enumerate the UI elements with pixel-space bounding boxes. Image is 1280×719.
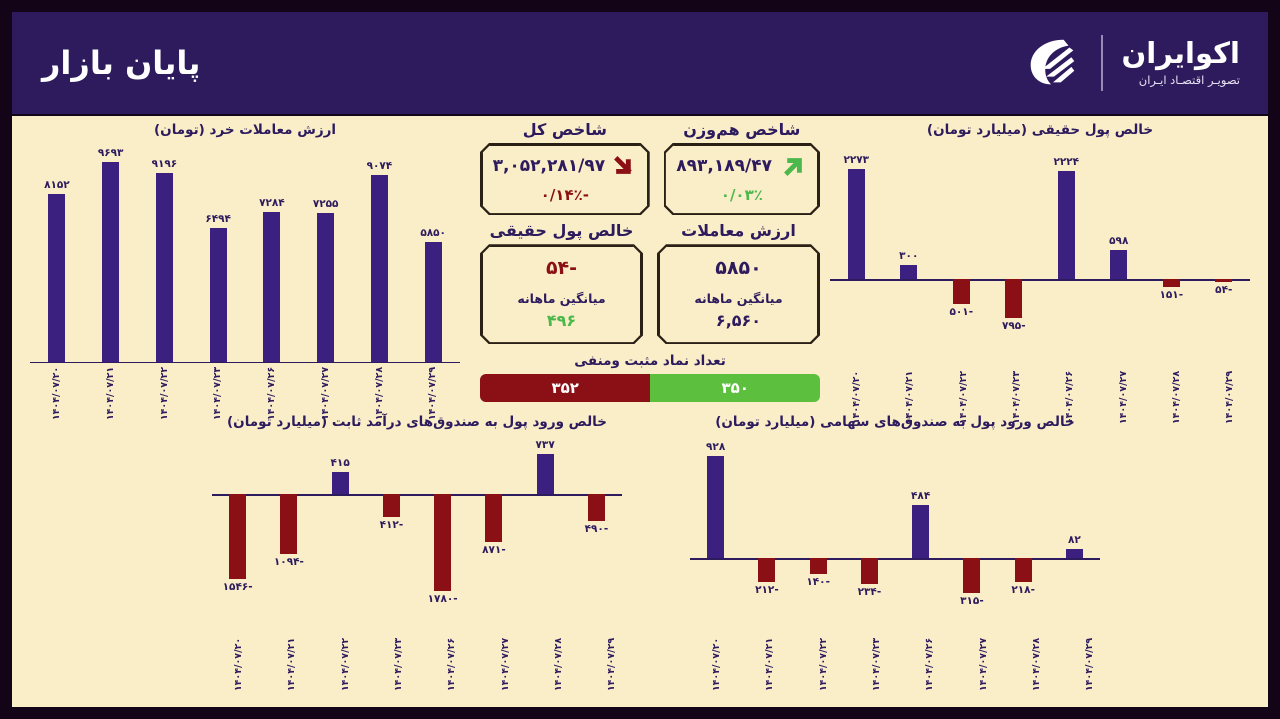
bar-value-label: -۲۱۲ xyxy=(755,584,779,596)
x-axis-labels: ۱۴۰۴/۰۷/۲۰۱۴۰۴/۰۷/۲۱۱۴۰۴/۰۷/۲۲۱۴۰۴/۰۷/۲۳… xyxy=(30,358,460,399)
bar-item[interactable]: ۹۲۸ xyxy=(690,448,741,598)
bar-value-label: ۹۱۹۶ xyxy=(152,158,178,170)
brand-divider xyxy=(1101,35,1103,91)
x-tick-label: ۱۴۰۴/۰۷/۲۸ xyxy=(1031,638,1042,691)
card-frame: ۵۸۵۰ میانگین ماهانه ۶,۵۶۰ xyxy=(657,244,820,344)
page-title: پایان بازار xyxy=(42,44,200,82)
card-body: ۳,۰۵۲,۲۸۱/۹۷ -۰/۱۴٪ xyxy=(482,145,649,214)
x-tick-cell: ۱۴۰۴/۰۷/۲۸ xyxy=(532,629,585,670)
x-tick-cell: ۱۴۰۴/۰۷/۲۶ xyxy=(903,629,956,670)
x-tick-label: ۱۴۰۴/۰۷/۲۷ xyxy=(1118,371,1129,424)
bar-value-label: -۵۴ xyxy=(1215,284,1232,296)
x-tick-cell: ۱۴۰۴/۰۷/۲۸ xyxy=(1010,629,1063,670)
brand-block: اکوایران تصویـر اقتصـاد ایـران xyxy=(1021,32,1240,94)
bar-value-label: -۱۵۱ xyxy=(1159,289,1183,301)
bar-positive xyxy=(900,265,917,280)
x-tick-cell: ۱۴۰۴/۰۷/۲۷ xyxy=(299,358,353,399)
plot-area: ۸۱۵۲۹۶۹۳۹۱۹۶۶۴۹۴۷۲۸۴۷۲۵۵۹۰۷۴۵۸۵۰ xyxy=(30,152,460,362)
bar-positive xyxy=(102,162,119,362)
bar-value-label: ۴۸۴ xyxy=(911,490,930,502)
x-tick-label: ۱۴۰۴/۰۷/۲۰ xyxy=(711,638,722,691)
bar-item[interactable]: ۹۶۹۳ xyxy=(84,152,138,362)
x-axis-labels: ۱۴۰۴/۰۷/۲۰۱۴۰۴/۰۷/۲۱۱۴۰۴/۰۷/۲۲۱۴۰۴/۰۷/۲۳… xyxy=(212,629,622,670)
x-tick-cell: ۱۴۰۴/۰۷/۲۸ xyxy=(353,358,407,399)
bar-negative xyxy=(758,558,775,581)
metric-value: ۵۸۵۰ xyxy=(670,257,808,279)
card-body: ۵۸۵۰ میانگین ماهانه ۶,۵۶۰ xyxy=(659,246,819,343)
chart-equity-fund-flow: خالص ورود پول به صندوق‌های سهامی (میلیار… xyxy=(690,414,1100,598)
bar-group: -۱۵۴۶-۱۰۹۴۴۱۵-۴۱۲-۱۷۸۰-۸۷۱۷۳۷-۴۹۰ xyxy=(212,448,622,598)
x-tick-label: ۱۴۰۴/۰۷/۲۳ xyxy=(393,638,404,691)
chart-title: خالص ورود پول به صندوق‌های سهامی (میلیار… xyxy=(690,414,1100,430)
chart-fixed-income-fund-flow: خالص ورود پول به صندوق‌های درآمد ثابت (م… xyxy=(212,414,622,598)
bar-value-label: -۱۵۴۶ xyxy=(223,581,253,593)
x-tick-cell: ۱۴۰۴/۰۷/۲۳ xyxy=(850,629,903,670)
x-tick-label: ۱۴۰۴/۰۷/۲۷ xyxy=(978,638,989,691)
bar-value-label: ۹۰۷۴ xyxy=(367,160,393,172)
card-body: -۵۴ میانگین ماهانه ۴۹۶ xyxy=(482,246,642,343)
bar-negative xyxy=(485,494,502,542)
x-tick-label: ۱۴۰۴/۰۷/۲۸ xyxy=(1171,371,1182,424)
bar-positive xyxy=(707,456,724,558)
x-tick-cell: ۱۴۰۴/۰۷/۲۹ xyxy=(406,358,460,399)
x-tick-cell: ۱۴۰۴/۰۷/۲۷ xyxy=(1097,362,1150,403)
x-tick-cell: ۱۴۰۴/۰۷/۲۶ xyxy=(245,358,299,399)
x-tick-cell: ۱۴۰۴/۰۷/۲۶ xyxy=(425,629,478,670)
bar-value-label: ۸۱۵۲ xyxy=(44,179,70,191)
bar-value-label: ۷۲۵۵ xyxy=(313,198,339,210)
bar-value-label: ۸۲ xyxy=(1068,534,1081,546)
bar-negative xyxy=(1163,279,1180,286)
bar-item[interactable]: -۱۰۹۴ xyxy=(263,448,314,598)
bar-item[interactable]: ۵۹۸ xyxy=(1093,158,1146,323)
arrow-down-right-icon xyxy=(611,153,637,179)
x-axis-labels: ۱۴۰۴/۰۷/۲۰۱۴۰۴/۰۷/۲۱۱۴۰۴/۰۷/۲۲۱۴۰۴/۰۷/۲۳… xyxy=(690,629,1100,670)
summary-cards: شاخص کل ۳,۰۵۲,۲۸۱/۹۷ -۰ xyxy=(480,120,820,402)
metric-sub-value: ۴۹۶ xyxy=(493,311,631,330)
bar-value-label: -۷۹۵ xyxy=(1002,320,1026,332)
eco-iran-swoosh-logo-icon xyxy=(1021,32,1083,94)
bar-value-label: ۴۱۵ xyxy=(331,457,350,469)
symbols-negative-count: ۳۵۲ xyxy=(480,374,650,402)
bar-item[interactable]: ۴۱۵ xyxy=(315,448,366,598)
x-tick-label: ۱۴۰۴/۰۷/۲۱ xyxy=(286,638,297,691)
bar-negative xyxy=(963,558,980,593)
dashboard-canvas: ارزش معاملات خرد (تومان) ۸۱۵۲۹۶۹۳۹۱۹۶۶۴۹… xyxy=(12,116,1268,707)
x-tick-label: ۱۴۰۴/۰۷/۲۷ xyxy=(320,367,331,420)
bar-item[interactable]: -۱۴۰ xyxy=(793,448,844,598)
card-frame: ۳,۰۵۲,۲۸۱/۹۷ -۰/۱۴٪ xyxy=(480,143,650,215)
bar-item[interactable]: -۵۴ xyxy=(1198,158,1251,323)
bar-value-label: ۷۳۷ xyxy=(536,439,555,451)
x-tick-cell: ۱۴۰۴/۰۷/۲۹ xyxy=(1203,362,1256,403)
x-tick-label: ۱۴۰۴/۰۷/۲۲ xyxy=(818,638,829,691)
x-tick-label: ۱۴۰۴/۰۷/۲۲ xyxy=(159,367,170,420)
x-tick-cell: ۱۴۰۴/۰۷/۲۰ xyxy=(830,362,883,403)
bar-negative xyxy=(434,494,451,591)
arrow-up-right-icon xyxy=(781,153,807,179)
bar-positive xyxy=(537,454,554,494)
x-tick-cell: ۱۴۰۴/۰۷/۲۰ xyxy=(212,629,265,670)
bar-item[interactable]: -۲۳۴ xyxy=(844,448,895,598)
bar-positive xyxy=(156,173,173,362)
index-card-row: شاخص کل ۳,۰۵۲,۲۸۱/۹۷ -۰ xyxy=(480,120,820,215)
bar-item[interactable]: ۴۸۴ xyxy=(895,448,946,598)
bar-item[interactable]: -۸۷۱ xyxy=(468,448,519,598)
x-tick-label: ۱۴۰۴/۰۷/۲۶ xyxy=(266,367,277,420)
x-tick-label: ۱۴۰۴/۰۷/۲۶ xyxy=(446,638,457,691)
index-value: ۳,۰۵۲,۲۸۱/۹۷ xyxy=(493,156,606,176)
bar-group: ۸۱۵۲۹۶۹۳۹۱۹۶۶۴۹۴۷۲۸۴۷۲۵۵۹۰۷۴۵۸۵۰ xyxy=(30,152,460,362)
x-tick-cell: ۱۴۰۴/۰۷/۲۷ xyxy=(479,629,532,670)
card-trade-value: ارزش معاملات ۵۸۵۰ میانگین ماهانه ۶,۵۶۰ xyxy=(657,221,820,344)
x-tick-label: ۱۴۰۴/۰۷/۲۰ xyxy=(51,367,62,420)
bar-value-label: ۵۹۸ xyxy=(1109,235,1128,247)
x-tick-cell: ۱۴۰۴/۰۷/۲۶ xyxy=(1043,362,1096,403)
bar-value-label: ۲۲۷۳ xyxy=(843,154,869,166)
bar-negative xyxy=(810,558,827,573)
x-tick-cell: ۱۴۰۴/۰۷/۲۳ xyxy=(990,362,1043,403)
bar-group: ۲۲۷۳۳۰۰-۵۰۱-۷۹۵۲۲۲۴۵۹۸-۱۵۱-۵۴ xyxy=(830,158,1250,323)
x-tick-label: ۱۴۰۴/۰۷/۲۹ xyxy=(428,367,439,420)
bar-item[interactable]: ۳۰۰ xyxy=(883,158,936,323)
chart-retail-trade-value: ارزش معاملات خرد (تومان) ۸۱۵۲۹۶۹۳۹۱۹۶۶۴۹… xyxy=(30,122,460,362)
bar-value-label: -۴۱۲ xyxy=(380,519,404,531)
bar-item[interactable]: ۵۸۵۰ xyxy=(406,152,460,362)
card-body: ۸۹۳,۱۸۹/۴۷ ۰/۰۳٪ xyxy=(665,145,818,214)
x-tick-label: ۱۴۰۴/۰۷/۲۹ xyxy=(1224,371,1235,424)
bar-negative xyxy=(229,494,246,578)
app-header: اکوایران تصویـر اقتصـاد ایـران پایان باز… xyxy=(12,12,1268,114)
symbols-bar: ۳۵۲ ۳۵۰ xyxy=(480,374,820,402)
bar-value-label: -۱۰۹۴ xyxy=(274,556,304,568)
metric-sub-label: میانگین ماهانه xyxy=(670,291,808,306)
chart-title: ارزش معاملات خرد (تومان) xyxy=(30,122,460,138)
bar-value-label: -۲۱۸ xyxy=(1011,584,1035,596)
bar-item[interactable]: -۷۹۵ xyxy=(988,158,1041,323)
plot-area: -۱۵۴۶-۱۰۹۴۴۱۵-۴۱۲-۱۷۸۰-۸۷۱۷۳۷-۴۹۰ xyxy=(212,448,622,598)
bar-positive xyxy=(317,213,334,362)
bar-negative xyxy=(861,558,878,584)
card-frame: ۸۹۳,۱۸۹/۴۷ ۰/۰۳٪ xyxy=(664,143,820,215)
bar-positive xyxy=(1058,171,1075,279)
bar-value-label: ۳۰۰ xyxy=(899,250,918,262)
x-tick-cell: ۱۴۰۴/۰۷/۲۱ xyxy=(265,629,318,670)
symbols-title: تعداد نماد مثبت ومنفی xyxy=(480,353,820,369)
bar-value-label: -۲۳۴ xyxy=(858,586,882,598)
x-tick-cell: ۱۴۰۴/۰۷/۲۲ xyxy=(319,629,372,670)
bar-item[interactable]: ۲۲۷۳ xyxy=(830,158,883,323)
bar-positive xyxy=(425,242,442,362)
bar-negative xyxy=(1005,279,1022,318)
bar-item[interactable]: ۹۱۹۶ xyxy=(138,152,192,362)
bar-positive xyxy=(848,169,865,279)
brand-name: اکوایران xyxy=(1121,39,1240,68)
x-tick-label: ۱۴۰۴/۰۷/۲۳ xyxy=(871,638,882,691)
dashboard-root: اکوایران تصویـر اقتصـاد ایـران پایان باز… xyxy=(0,0,1280,719)
x-tick-label: ۱۴۰۴/۰۷/۲۱ xyxy=(105,367,116,420)
metric-sub-value: ۶,۵۶۰ xyxy=(670,311,808,330)
bar-item[interactable]: -۴۹۰ xyxy=(571,448,622,598)
plot-area: ۹۲۸-۲۱۲-۱۴۰-۲۳۴۴۸۴-۳۱۵-۲۱۸۸۲ xyxy=(690,448,1100,598)
bar-item[interactable]: ۷۲۵۵ xyxy=(299,152,353,362)
x-tick-label: ۱۴۰۴/۰۷/۲۱ xyxy=(764,638,775,691)
bar-value-label: -۵۰۱ xyxy=(949,306,973,318)
bar-positive xyxy=(48,194,65,362)
bar-item[interactable]: ۲۲۲۴ xyxy=(1040,158,1093,323)
bar-negative xyxy=(1015,558,1032,582)
bar-item[interactable]: -۱۷۸۰ xyxy=(417,448,468,598)
index-percent: ۰/۰۳٪ xyxy=(676,186,807,204)
bar-value-label: ۹۶۹۳ xyxy=(98,147,124,159)
bar-negative xyxy=(383,494,400,516)
bar-positive xyxy=(210,228,227,362)
x-tick-cell: ۱۴۰۴/۰۷/۲۹ xyxy=(1063,629,1116,670)
x-tick-cell: ۱۴۰۴/۰۷/۲۷ xyxy=(957,629,1010,670)
card-heading: ارزش معاملات xyxy=(657,221,820,240)
bar-item[interactable]: -۵۰۱ xyxy=(935,158,988,323)
x-tick-label: ۱۴۰۴/۰۷/۲۳ xyxy=(213,367,224,420)
x-tick-label: ۱۴۰۴/۰۷/۲۸ xyxy=(374,367,385,420)
x-tick-label: ۱۴۰۴/۰۷/۲۲ xyxy=(340,638,351,691)
bar-positive xyxy=(1066,549,1083,558)
bar-item[interactable]: ۶۴۹۴ xyxy=(191,152,245,362)
bar-value-label: ۹۲۸ xyxy=(706,441,725,453)
bar-negative xyxy=(953,279,970,303)
bar-value-label: ۶۴۹۴ xyxy=(205,213,231,225)
x-tick-label: ۱۴۰۴/۰۷/۲۹ xyxy=(1084,638,1095,691)
x-tick-cell: ۱۴۰۴/۰۷/۲۲ xyxy=(797,629,850,670)
plot-area: ۲۲۷۳۳۰۰-۵۰۱-۷۹۵۲۲۲۴۵۹۸-۱۵۱-۵۴ xyxy=(830,158,1250,323)
x-axis-labels: ۱۴۰۴/۰۷/۲۰۱۴۰۴/۰۷/۲۱۱۴۰۴/۰۷/۲۲۱۴۰۴/۰۷/۲۳… xyxy=(830,362,1250,403)
index-main-row: ۳,۰۵۲,۲۸۱/۹۷ xyxy=(493,153,638,179)
bar-value-label: -۳۱۵ xyxy=(960,595,984,607)
metric-sub-label: میانگین ماهانه xyxy=(493,291,631,306)
bar-item[interactable]: ۸۱۵۲ xyxy=(30,152,84,362)
x-tick-cell: ۱۴۰۴/۰۷/۲۰ xyxy=(30,358,84,399)
card-heading: شاخص کل xyxy=(480,120,650,139)
index-main-row: ۸۹۳,۱۸۹/۴۷ xyxy=(676,153,807,179)
bar-positive xyxy=(332,472,349,495)
bar-item[interactable]: -۱۵۴۶ xyxy=(212,448,263,598)
x-tick-cell: ۱۴۰۴/۰۷/۲۱ xyxy=(883,362,936,403)
bar-positive xyxy=(1110,250,1127,279)
x-tick-label: ۱۴۰۴/۰۷/۲۶ xyxy=(924,638,935,691)
bar-item[interactable]: -۳۱۵ xyxy=(946,448,997,598)
bar-item[interactable]: -۲۱۸ xyxy=(998,448,1049,598)
bar-item[interactable]: -۴۱۲ xyxy=(366,448,417,598)
card-heading: خالص پول حقیقی xyxy=(480,221,643,240)
x-tick-cell: ۱۴۰۴/۰۷/۲۹ xyxy=(585,629,638,670)
x-tick-label: ۱۴۰۴/۰۷/۲۹ xyxy=(606,638,617,691)
bar-item[interactable]: -۱۵۱ xyxy=(1145,158,1198,323)
bar-negative xyxy=(280,494,297,554)
bar-negative xyxy=(588,494,605,521)
x-tick-cell: ۱۴۰۴/۰۷/۲۸ xyxy=(1150,362,1203,403)
x-tick-label: ۱۴۰۴/۰۷/۲۸ xyxy=(553,638,564,691)
x-tick-label: ۱۴۰۴/۰۷/۲۰ xyxy=(233,638,244,691)
bar-positive xyxy=(912,505,929,558)
x-tick-cell: ۱۴۰۴/۰۷/۲۱ xyxy=(743,629,796,670)
x-tick-cell: ۱۴۰۴/۰۷/۲۲ xyxy=(937,362,990,403)
bar-positive xyxy=(371,175,388,362)
card-frame: -۵۴ میانگین ماهانه ۴۹۶ xyxy=(480,244,643,344)
bar-item[interactable]: ۸۲ xyxy=(1049,448,1100,598)
bar-negative xyxy=(1215,279,1232,282)
chart-net-real-money: خالص پول حقیقی (میلیارد تومان) ۲۲۷۳۳۰۰-۵… xyxy=(830,122,1250,323)
bar-value-label: -۴۹۰ xyxy=(585,523,609,535)
bar-value-label: -۱۴۰ xyxy=(806,576,830,588)
chart-title: خالص ورود پول به صندوق‌های درآمد ثابت (م… xyxy=(212,414,622,430)
chart-title: خالص پول حقیقی (میلیارد تومان) xyxy=(830,122,1250,138)
bar-value-label: ۷۲۸۴ xyxy=(259,197,285,209)
x-tick-cell: ۱۴۰۴/۰۷/۲۳ xyxy=(191,358,245,399)
index-percent: -۰/۱۴٪ xyxy=(493,186,638,204)
brand-text: اکوایران تصویـر اقتصـاد ایـران xyxy=(1121,39,1240,87)
x-tick-cell: ۱۴۰۴/۰۷/۲۲ xyxy=(138,358,192,399)
bar-positive xyxy=(263,212,280,362)
bar-item[interactable]: -۲۱۲ xyxy=(741,448,792,598)
x-tick-cell: ۱۴۰۴/۰۷/۲۳ xyxy=(372,629,425,670)
card-net-real-money: خالص پول حقیقی -۵۴ میانگین ماهانه ۴۹۶ xyxy=(480,221,643,344)
card-heading: شاخص هم‌وزن xyxy=(664,120,820,139)
bar-value-label: -۸۷۱ xyxy=(482,544,506,556)
bar-value-label: ۲۲۲۴ xyxy=(1053,156,1079,168)
value-card-row: خالص پول حقیقی -۵۴ میانگین ماهانه ۴۹۶ ار… xyxy=(480,221,820,344)
bar-value-label: -۱۷۸۰ xyxy=(428,593,458,605)
bar-value-label: ۵۸۵۰ xyxy=(420,227,446,239)
metric-value: -۵۴ xyxy=(493,257,631,279)
x-tick-label: ۱۴۰۴/۰۷/۲۷ xyxy=(500,638,511,691)
card-index-hamvazn: شاخص هم‌وزن ۸۹۳,۱۸۹/۴۷ xyxy=(664,120,820,215)
index-value: ۸۹۳,۱۸۹/۴۷ xyxy=(676,156,772,176)
brand-tagline: تصویـر اقتصـاد ایـران xyxy=(1121,75,1240,87)
x-tick-cell: ۱۴۰۴/۰۷/۲۰ xyxy=(690,629,743,670)
bar-item[interactable]: ۷۳۷ xyxy=(520,448,571,598)
card-index-kol: شاخص کل ۳,۰۵۲,۲۸۱/۹۷ -۰ xyxy=(480,120,650,215)
bar-group: ۹۲۸-۲۱۲-۱۴۰-۲۳۴۴۸۴-۳۱۵-۲۱۸۸۲ xyxy=(690,448,1100,598)
bar-item[interactable]: ۷۲۸۴ xyxy=(245,152,299,362)
bar-item[interactable]: ۹۰۷۴ xyxy=(353,152,407,362)
x-tick-cell: ۱۴۰۴/۰۷/۲۱ xyxy=(84,358,138,399)
symbols-positive-count: ۳۵۰ xyxy=(650,374,820,402)
